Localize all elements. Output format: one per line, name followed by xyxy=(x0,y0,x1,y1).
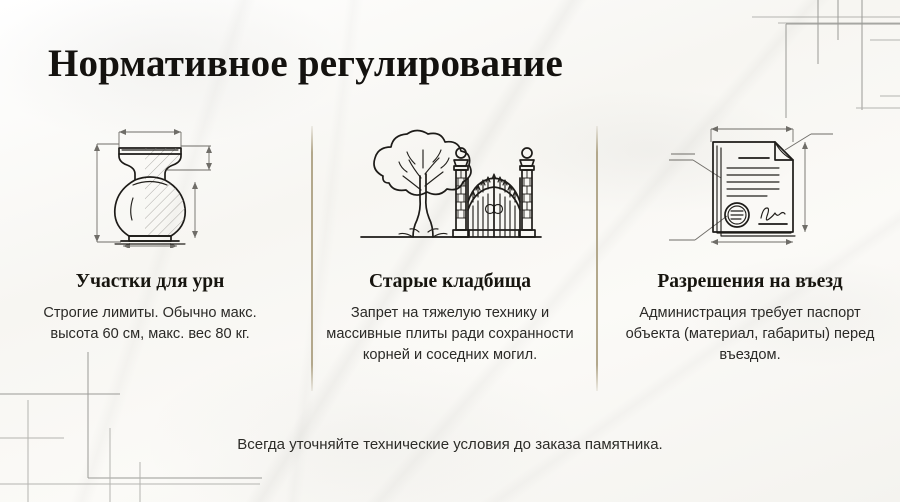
column-body: Запрет на тяжелую технику и массивные пл… xyxy=(325,303,575,366)
column-title: Старые кладбища xyxy=(369,270,531,294)
certificate-document-icon xyxy=(665,118,835,248)
column-entry-permits: Разрешения на въезд Администрация требуе… xyxy=(600,118,900,366)
page-title: Нормативное регулирование xyxy=(48,41,563,87)
footer-note: Всегда уточняйте технические условия до … xyxy=(0,434,900,456)
column-title: Участки для урн xyxy=(76,270,225,294)
column-old-cemeteries: Старые кладбища Запрет на тяжелую техник… xyxy=(300,118,600,366)
column-body: Строгие лимиты. Обычно макс. высота 60 с… xyxy=(25,303,275,345)
slide-canvas: Нормативное регулирование xyxy=(0,0,900,502)
column-title: Разрешения на въезд xyxy=(657,270,842,294)
columns-row: Участки для урн Строгие лимиты. Обычно м… xyxy=(0,118,900,366)
column-body: Администрация требует паспорт объекта (м… xyxy=(625,303,875,366)
tree-and-cemetery-gate-icon xyxy=(355,118,545,248)
column-urn: Участки для урн Строгие лимиты. Обычно м… xyxy=(0,118,300,345)
urn-with-dimensions-icon xyxy=(75,118,225,248)
